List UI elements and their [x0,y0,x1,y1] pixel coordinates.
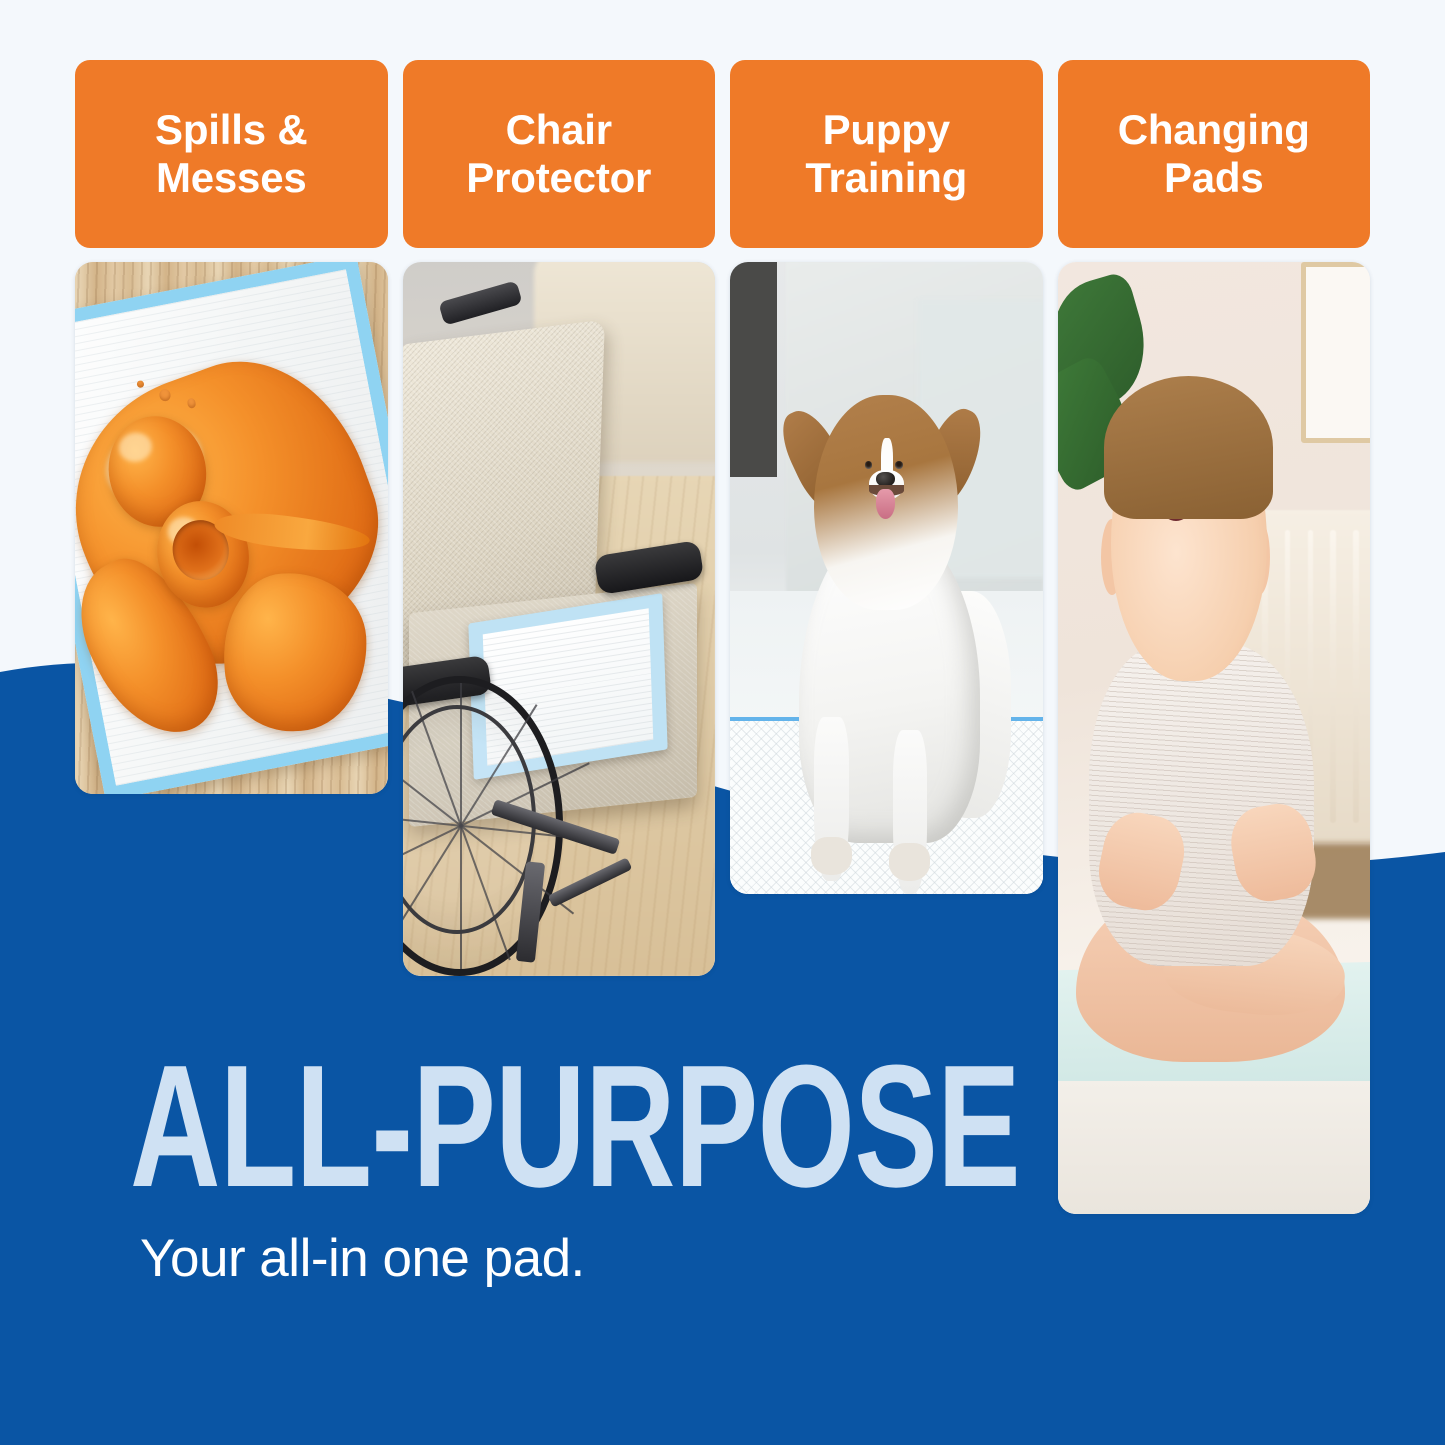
wall-picture-frame [1301,262,1370,443]
spill-scene [75,262,388,794]
dog-head [814,395,958,610]
floor [1058,1081,1371,1214]
category-image-changing-pads [1058,262,1371,1214]
dog-paw-right [889,843,930,881]
banner-headline: ALL-PURPOSE [130,1055,778,1198]
category-pill-changing-pads[interactable]: Changing Pads [1058,60,1371,248]
dog-tongue [876,489,895,519]
category-pill-puppy-training[interactable]: Puppy Training [730,60,1043,248]
dog-paw-left [811,837,852,875]
wheelchair-scene [403,262,716,976]
absorbent-pad [75,262,388,794]
product-infographic: Spills & Messes Chair Protector Puppy Tr… [0,0,1445,1445]
banner-subheadline: Your all-in one pad. [140,1232,1030,1285]
baby-scene [1058,262,1371,1214]
category-pill-row: Spills & Messes Chair Protector Puppy Tr… [75,60,1370,248]
category-image-chair-protector [403,262,716,976]
category-pill-chair-protector[interactable]: Chair Protector [403,60,716,248]
dog-scene [730,262,1043,894]
category-pill-spills[interactable]: Spills & Messes [75,60,388,248]
baby-hair [1104,376,1273,519]
dark-wall-panel [730,262,777,477]
dog-eye-right [895,461,903,469]
category-image-spills [75,262,388,794]
dog-eye-left [865,461,873,469]
category-image-puppy-training [730,262,1043,894]
banner-text-block: ALL-PURPOSE Your all-in one pad. [130,1055,1030,1285]
